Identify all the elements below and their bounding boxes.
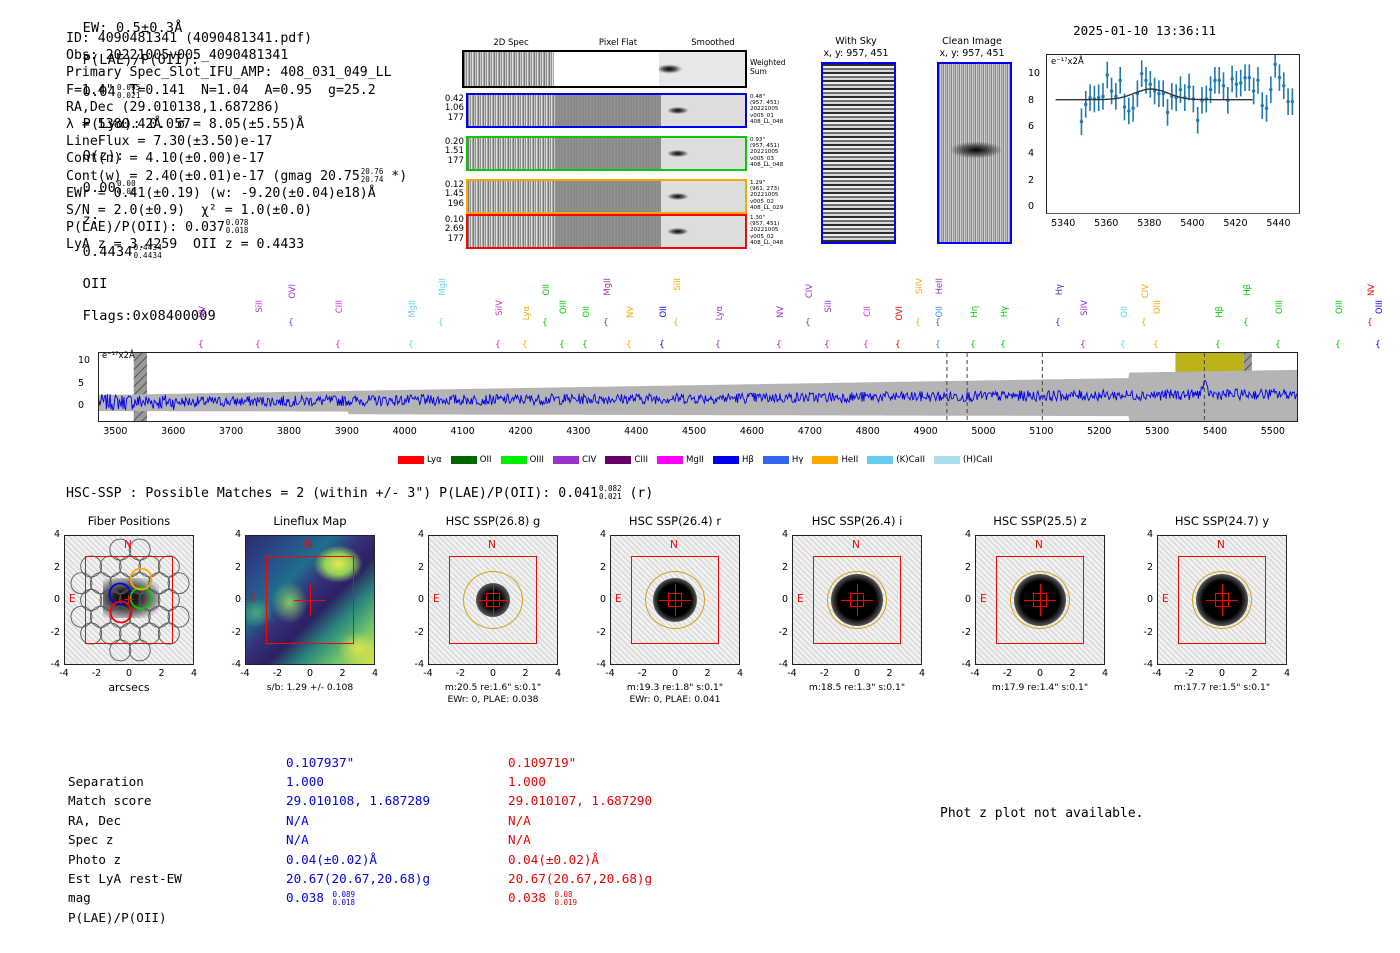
spectral-line-brace: { <box>673 318 679 328</box>
match-value-col2: N/A <box>508 830 531 849</box>
col-header-pixelflat: Pixel Flat <box>573 38 663 48</box>
spectral-line-label: HeII <box>934 278 944 294</box>
full-spectrum-svg <box>99 353 1297 421</box>
spectral-line-label: MgII <box>602 278 612 295</box>
match-value-col2: 20.67(20.67,20.68)g <box>508 869 652 888</box>
legend-item: (K)CaII <box>867 455 925 465</box>
spectral-line-label: OIII <box>1274 300 1284 314</box>
spectral-line-label: MgII <box>407 300 417 317</box>
emission-xtick: 5360 <box>1091 218 1121 229</box>
row-0-stat-2: 177 <box>436 114 464 123</box>
panel-xtick: 4 <box>182 668 206 679</box>
hsc-header-text: HSC-SSP : Possible Matches = 2 (within +… <box>66 486 598 501</box>
spectrum-ytick: 0 <box>78 400 84 411</box>
emission-xtick: 5380 <box>1134 218 1164 229</box>
panel-xtick: -4 <box>1145 668 1169 679</box>
panel-xtick: -4 <box>52 668 76 679</box>
info-lineflux: LineFlux = 7.30(±3.50)e-17 <box>66 133 407 150</box>
row-0-right-meta: 0.48" (957, 451) 20221005 v005_01 408_LL… <box>750 94 783 125</box>
spectrum-xtick: 3900 <box>327 426 367 437</box>
compass-north-6: N <box>1217 539 1225 551</box>
row-3-meta-4: 408_LL_048 <box>750 240 783 246</box>
cutout-0-title: With Sky x, y: 957, 451 <box>806 36 906 60</box>
panel-xtick: -4 <box>963 668 987 679</box>
spectrum-xtick: 4600 <box>732 426 772 437</box>
panel-caption-1: s/b: 1.29 +/- 0.108 <box>223 682 397 694</box>
spectrum-xtick: 5300 <box>1137 426 1177 437</box>
emission-ytick: 6 <box>1028 121 1034 132</box>
legend-swatch <box>934 456 960 464</box>
spectral-line-brace: { <box>935 340 941 350</box>
spectral-line-label: Hγ <box>1054 284 1064 295</box>
spectral-line-label: OIII <box>558 300 568 314</box>
panel-ytick: -2 <box>1137 627 1153 638</box>
spectral-line-label: OII <box>581 306 591 318</box>
panel-title-2: HSC SSP(26.8) g <box>406 514 580 528</box>
spectral-line-brace: { <box>1153 340 1159 350</box>
cutout-1-coords: x, y: 957, 451 <box>922 48 1022 60</box>
legend-swatch <box>398 456 424 464</box>
panel-xtick: 2 <box>696 668 720 679</box>
panel-ytick: -2 <box>955 627 971 638</box>
spectral-line-label: Hβ <box>1214 306 1224 318</box>
panel-xtick: -4 <box>416 668 440 679</box>
spectral-line-label: OII <box>1119 306 1129 318</box>
match-value-col2: 0.038 0.080.019 <box>508 888 577 907</box>
legend-item: (H)CaII <box>934 455 993 465</box>
panel-ytick: 4 <box>772 529 788 540</box>
spectral-line-brace: { <box>522 340 528 350</box>
panel-xtick: -4 <box>780 668 804 679</box>
object-info-block: ID: 4090481341 (4090481341.pdf) Obs: 202… <box>66 30 407 254</box>
match-value-col2: 0.04(±0.02)Å <box>508 850 599 869</box>
panel-xtick: -2 <box>1178 668 1202 679</box>
row-2-meta-2: 20221005 <box>750 192 783 198</box>
emission-line-fit-plot: e⁻¹⁷x2Å <box>1046 54 1300 214</box>
spectral-line-brace: { <box>559 340 565 350</box>
spectrum-xtick: 5200 <box>1079 426 1119 437</box>
panel-caption-5: m:17.9 re:1.4" s:0.1" <box>953 682 1127 694</box>
spectral-line-brace: { <box>1000 340 1006 350</box>
header-flags: Flags:0x08400009 <box>83 308 216 324</box>
row-0-meta-2: 20221005 <box>750 106 783 112</box>
panel-xtick: 0 <box>117 668 141 679</box>
match-row-label: P(LAE)/P(OII) <box>68 908 167 927</box>
spectral-line-brace: { <box>915 318 921 328</box>
spectral-line-label: CII <box>862 306 872 317</box>
match-row-label: Spec z <box>68 830 114 849</box>
spectrum-xtick: 3600 <box>153 426 193 437</box>
panel-xtick: 2 <box>514 668 538 679</box>
match-value-col2: N/A <box>508 811 531 830</box>
spectrum-xtick: 5100 <box>1021 426 1061 437</box>
panel-xtick: 0 <box>481 668 505 679</box>
spectral-line-brace: { <box>335 340 341 350</box>
legend-item: CIII <box>605 455 648 465</box>
spectral-line-brace: { <box>659 340 665 350</box>
legend-swatch <box>451 456 477 464</box>
spectrum-ytick: 10 <box>78 355 90 366</box>
emission-xtick: 5420 <box>1220 218 1250 229</box>
spec-row-1 <box>466 136 747 171</box>
panel-xtick: -2 <box>85 668 109 679</box>
spec-row-2 <box>466 179 747 214</box>
match-value-col1: 0.04(±0.02)Å <box>286 850 377 869</box>
legend-label: OII <box>480 455 492 465</box>
panel-ytick: 4 <box>225 529 241 540</box>
panel-ytick: -2 <box>408 627 424 638</box>
spectral-line-brace: { <box>1367 318 1373 328</box>
spectrum-xtick: 4900 <box>906 426 946 437</box>
spectral-line-label: NV <box>625 306 635 318</box>
legend-item: MgII <box>657 455 704 465</box>
timestamp: 2025-01-10 13:36:11 <box>1073 23 1216 38</box>
panel-xtick: 0 <box>298 668 322 679</box>
panel-xtick: -2 <box>813 668 837 679</box>
panel-xtick: -4 <box>233 668 257 679</box>
panel-title-6: HSC SSP(24.7) y <box>1135 514 1309 528</box>
spectral-line-brace: { <box>1120 340 1126 350</box>
spectrum-xtick: 4800 <box>848 426 888 437</box>
spectral-line-label: NV <box>1366 284 1376 296</box>
panel-xtick: -2 <box>631 668 655 679</box>
spectral-line-label: OII <box>658 306 668 318</box>
spectral-line-brace: { <box>805 318 811 328</box>
compass-east-2: E <box>433 593 440 605</box>
spectrum-xtick: 4700 <box>790 426 830 437</box>
panel-xtick: -2 <box>266 668 290 679</box>
compass-east-4: E <box>797 593 804 605</box>
row-1-left-stats: 0.20 1.51 177 <box>436 138 464 166</box>
spectral-line-label: Lyα <box>714 306 724 320</box>
panel-xtick: 4 <box>363 668 387 679</box>
cutout-1-name: Clean Image <box>922 36 1022 48</box>
row-3-right-meta: 1.30" (957, 451) 20221005 v005_02 408_LL… <box>750 215 783 246</box>
spectral-line-label: OVI <box>287 284 297 299</box>
legend-label: Hβ <box>742 455 754 465</box>
legend-label: (K)CaII <box>896 455 925 465</box>
emission-ytick: 8 <box>1028 95 1034 106</box>
panel-ytick: 2 <box>44 562 60 573</box>
compass-east-3: E <box>615 593 622 605</box>
spectrum-xtick: 3700 <box>211 426 251 437</box>
compass-east-0: E <box>69 593 76 605</box>
match-row-label: Est LyA rest-EW <box>68 869 182 888</box>
panel-ytick: 2 <box>590 562 606 573</box>
weighted-sum-row <box>462 50 747 88</box>
spectral-line-brace: { <box>255 340 261 350</box>
panel-title-3: HSC SSP(26.4) r <box>588 514 762 528</box>
compass-north-5: N <box>1035 539 1043 551</box>
legend-label: Hγ <box>792 455 804 465</box>
spectral-line-brace: { <box>1375 340 1381 350</box>
spectral-line-brace: { <box>1215 340 1221 350</box>
panel-xtick: 2 <box>1243 668 1267 679</box>
panel-xtick: 2 <box>150 668 174 679</box>
spectral-line-label: OIII <box>1374 300 1384 314</box>
spectral-line-label: OII <box>541 284 551 296</box>
row-2-stat-2: 196 <box>436 200 464 209</box>
match-value-col1: 29.010108, 1.687289 <box>286 791 430 810</box>
panel-ytick: 4 <box>590 529 606 540</box>
info-id: ID: 4090481341 (4090481341.pdf) <box>66 30 407 47</box>
spectral-line-label: OIII <box>1334 300 1344 314</box>
compass-north-3: N <box>670 539 678 551</box>
spectral-line-brace: { <box>542 318 548 328</box>
spectrum-xtick: 4100 <box>443 426 483 437</box>
spectral-line-brace: { <box>582 340 588 350</box>
spectral-line-label: NV <box>775 306 785 318</box>
info-lambda-sigma: λ = 5380.42Å σ = 8.05(±5.55)Å <box>66 116 407 133</box>
spectrum-legend: LyαOIIOIIICIVCIIIMgIIHβHγHeII(K)CaII(H)C… <box>398 455 993 465</box>
spectral-line-brace: { <box>776 340 782 350</box>
panel-caption-2: m:20.5 re:1.6" s:0.1" <box>406 682 580 694</box>
spectral-line-label: CIV <box>804 284 814 298</box>
spectral-line-label: Hγ <box>999 306 1009 317</box>
row-1-meta-2: 20221005 <box>750 149 783 155</box>
legend-swatch <box>867 456 893 464</box>
panel-xtick: 0 <box>1028 668 1052 679</box>
info-plae: P(LAE)/P(OII): 0.0370.0780.018 <box>66 219 407 236</box>
panel-xtick: -4 <box>598 668 622 679</box>
spec-row-3 <box>466 214 747 249</box>
spectrum-xtick: 5400 <box>1195 426 1235 437</box>
plae-lo: 0.019 <box>555 899 578 907</box>
info-cont-w: Cont(w) = 2.40(±0.01)e-17 (gmag 20.7520.… <box>66 168 407 185</box>
spectral-line-label: SiIV <box>494 300 504 316</box>
spectrum-xtick: 4300 <box>558 426 598 437</box>
panel-ytick: 2 <box>408 562 424 573</box>
row-3-left-stats: 0.10 2.69 177 <box>436 216 464 244</box>
photoz-note: Phot z plot not available. <box>940 806 1144 821</box>
center-marker-4 <box>850 593 864 607</box>
panel-xtick: 0 <box>1210 668 1234 679</box>
match-value-col1: N/A <box>286 830 309 849</box>
hsc-header-lo: 0.021 <box>599 493 622 501</box>
spectral-line-label: Hβ <box>1242 284 1252 296</box>
panel-xtick: 0 <box>845 668 869 679</box>
spectral-line-label: SiIV <box>914 278 924 294</box>
panel-xtick: 4 <box>728 668 752 679</box>
row-2-right-meta: 1.29" (961, 273) 20221005 v005_02 408_LL… <box>750 180 783 211</box>
spectral-line-brace: { <box>408 340 414 350</box>
legend-label: (H)CaII <box>963 455 993 465</box>
panel-ytick: 2 <box>225 562 241 573</box>
panel-xtick: 4 <box>1275 668 1299 679</box>
row-2-meta-4: 408_LL_029 <box>750 205 783 211</box>
cutout-clean-image <box>937 62 1012 244</box>
panel-xtick: -2 <box>996 668 1020 679</box>
match-value-col1: 0.107937" <box>286 753 354 772</box>
spectral-line-brace: { <box>824 340 830 350</box>
match-row-label: Match score <box>68 791 151 810</box>
match-value-col1: 20.67(20.67,20.68)g <box>286 869 430 888</box>
plae-lo: 0.018 <box>333 899 356 907</box>
row-0-meta-4: 408_LL_048 <box>750 119 783 125</box>
legend-item: Hγ <box>763 455 804 465</box>
panel-ytick: 0 <box>772 594 788 605</box>
legend-item: Lyα <box>398 455 442 465</box>
col-header-smoothed: Smoothed <box>668 38 758 48</box>
legend-label: OIII <box>530 455 544 465</box>
legend-swatch <box>657 456 683 464</box>
hsc-header-post: (r) <box>629 486 653 501</box>
spectral-line-brace: { <box>495 340 501 350</box>
cutout-0-coords: x, y: 957, 451 <box>806 48 906 60</box>
plae-value: 0.038 <box>508 890 554 905</box>
spectral-line-label: SiIV <box>1079 300 1089 316</box>
panel-caption-3: m:19.3 re:1.8" s:0.1" <box>588 682 762 694</box>
crosshair-v-1 <box>310 584 311 616</box>
legend-label: MgII <box>686 455 704 465</box>
panel-xtick: 2 <box>878 668 902 679</box>
weighted-sum-label: Weighted Sum <box>750 58 790 76</box>
panel-ytick: 4 <box>1137 529 1153 540</box>
info-cont-w-post: *) <box>391 169 407 184</box>
panel-xtick: 0 <box>663 668 687 679</box>
info-redshifts: LyA z = 3.4259 OII z = 0.4433 <box>66 236 407 253</box>
panel-ytick: -2 <box>590 627 606 638</box>
spectrum-xtick: 4500 <box>674 426 714 437</box>
row-0-left-stats: 0.42 1.06 177 <box>436 95 464 123</box>
emission-ytick: 2 <box>1028 175 1034 186</box>
compass-north-1: N <box>305 539 313 551</box>
legend-swatch <box>713 456 739 464</box>
panel-xtick: -2 <box>449 668 473 679</box>
compass-east-6: E <box>1162 593 1169 605</box>
panel-ytick: 4 <box>408 529 424 540</box>
plae-value: 0.038 <box>286 890 332 905</box>
spectral-line-brace: { <box>626 340 632 350</box>
spectral-line-brace: { <box>935 318 941 328</box>
legend-item: CIV <box>553 455 596 465</box>
compass-north-2: N <box>488 539 496 551</box>
legend-label: CIII <box>634 455 648 465</box>
panel-title-0: Fiber Positions <box>42 514 216 528</box>
match-row-label: mag <box>68 888 91 907</box>
emission-xtick: 5440 <box>1263 218 1293 229</box>
match-value-col2: 29.010107, 1.687290 <box>508 791 652 810</box>
spectral-line-brace: { <box>970 340 976 350</box>
emission-ytick: 0 <box>1028 201 1034 212</box>
center-plus-v <box>128 595 129 605</box>
compass-east-5: E <box>980 593 987 605</box>
panel-ytick: 2 <box>1137 562 1153 573</box>
legend-swatch <box>501 456 527 464</box>
center-marker-6 <box>1215 593 1229 607</box>
row-1-meta-4: 408_LL_048 <box>750 162 783 168</box>
match-row-label: Separation <box>68 772 144 791</box>
panel-xtick: 2 <box>1061 668 1085 679</box>
panel-caption2-2: EWr: 0, PLAE: 0.038 <box>406 694 580 706</box>
info-primary-slot: Primary Spec_Slot_IFU_AMP: 408_031_049_L… <box>66 64 407 81</box>
center-marker-2 <box>486 593 500 607</box>
cutout-1-title: Clean Image x, y: 957, 451 <box>922 36 1022 60</box>
match-value-col2: 1.000 <box>508 772 546 791</box>
spectral-line-label: OVI <box>894 306 904 321</box>
spectrum-xtick: 5500 <box>1253 426 1293 437</box>
spectrum-xtick: 5000 <box>963 426 1003 437</box>
spectral-line-brace: { <box>715 340 721 350</box>
spectral-line-brace: { <box>1335 340 1341 350</box>
spectrum-ytick: 5 <box>78 378 84 389</box>
row-1-right-meta: 0.93" (957, 451) 20221005 v005_03 408_LL… <box>750 137 783 168</box>
spectral-line-brace: { <box>603 318 609 328</box>
emission-line-fit-svg <box>1047 55 1301 215</box>
spectral-line-label: NV <box>197 306 207 318</box>
legend-swatch <box>605 456 631 464</box>
info-obs: Obs: 20221005v005_4090481341 <box>66 47 407 64</box>
info-cont-w-pre: Cont(w) = 2.40(±0.01)e-17 (gmag 20.75 <box>66 169 360 184</box>
spectral-line-brace: { <box>1080 340 1086 350</box>
full-spectrum-plot: e⁻¹⁷x2Å <box>98 352 1298 422</box>
col-header-2dspec: 2D Spec <box>466 38 556 48</box>
spectral-line-brace: { <box>438 318 444 328</box>
panel-ytick: 0 <box>590 594 606 605</box>
legend-item: Hβ <box>713 455 754 465</box>
panel-title-1: Lineflux Map <box>223 514 397 528</box>
spectral-line-brace: { <box>1141 318 1147 328</box>
spectral-line-label: SiII <box>672 278 682 291</box>
match-value-col2: 0.109719" <box>508 753 576 772</box>
panel-ytick: 0 <box>1137 594 1153 605</box>
row-1-stat-2: 177 <box>436 157 464 166</box>
match-row-label: Photo z <box>68 850 121 869</box>
spectral-line-label: CIII <box>334 300 344 313</box>
spectral-line-label: MgII <box>437 278 447 295</box>
spectral-line-brace: { <box>1055 318 1061 328</box>
legend-item: OIII <box>501 455 544 465</box>
panel-ytick: 2 <box>955 562 971 573</box>
panel-ytick: 4 <box>955 529 971 540</box>
compass-north-0: N <box>124 539 132 551</box>
spectrum-xtick: 4200 <box>500 426 540 437</box>
spectral-line-label: Lyα <box>521 306 531 320</box>
spectral-line-label: OIII <box>1152 300 1162 314</box>
legend-swatch <box>553 456 579 464</box>
compass-east-1: E <box>250 593 257 605</box>
legend-item: HeII <box>812 455 858 465</box>
info-cont-w-lo: 20.74 <box>361 176 384 184</box>
spectrum-xtick: 3500 <box>95 426 135 437</box>
panel-ytick: 0 <box>225 594 241 605</box>
panel-xtick: 4 <box>910 668 934 679</box>
hsc-header: HSC-SSP : Possible Matches = 2 (within +… <box>66 485 653 501</box>
spectral-line-label: OII <box>934 306 944 318</box>
row-3-stat-2: 177 <box>436 235 464 244</box>
info-snr-chi2: S/N = 2.0(±0.9) χ² = 1.0(±0.0) <box>66 202 407 219</box>
row-3-meta-2: 20221005 <box>750 227 783 233</box>
spectrum-xtick: 4400 <box>616 426 656 437</box>
legend-label: CIV <box>582 455 596 465</box>
emission-ytick: 4 <box>1028 148 1034 159</box>
cutout-with-sky-image <box>821 62 896 244</box>
panel-xlabel-0: arcsecs <box>49 682 209 694</box>
panel-ytick: 0 <box>44 594 60 605</box>
center-marker-3 <box>668 593 682 607</box>
header-z-type: OII <box>83 276 108 292</box>
info-seeing: F=1.4" T=0.141 N=1.04 A=0.95 g=25.2 <box>66 82 407 99</box>
panel-ytick: -2 <box>44 627 60 638</box>
spectral-line-brace: { <box>1243 318 1249 328</box>
spectral-line-label: SiII <box>254 300 264 313</box>
panel-ytick: 0 <box>408 594 424 605</box>
spectral-line-brace: { <box>1275 340 1281 350</box>
info-ewr: EWr = 0.41(±0.19) (w: -9.20(±0.04)e18)Å <box>66 185 407 202</box>
spectral-line-brace: { <box>863 340 869 350</box>
panel-xtick: 2 <box>331 668 355 679</box>
legend-swatch <box>763 456 789 464</box>
